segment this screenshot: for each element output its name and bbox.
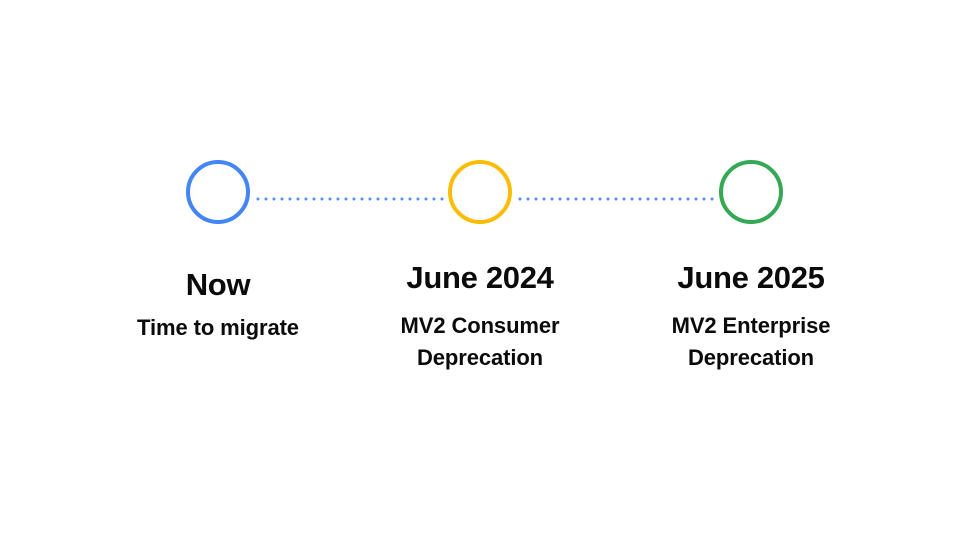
milestone-subtitle-line-1: MV2 Enterprise — [631, 310, 871, 342]
milestone-subtitle: MV2 Enterprise Deprecation — [631, 310, 871, 374]
milestone-title: June 2025 — [631, 262, 871, 293]
milestone-subtitle-line-2: Deprecation — [631, 342, 871, 374]
timeline-milestone-june-2025: June 2025 MV2 Enterprise Deprecation — [631, 160, 871, 374]
milestone-marker-circle-icon — [719, 160, 783, 224]
milestone-subtitle-line-2: Deprecation — [360, 342, 600, 374]
milestone-title: June 2024 — [360, 262, 600, 293]
timeline-milestone-now: Now Time to migrate — [98, 160, 338, 344]
timeline-diagram: Now Time to migrate June 2024 MV2 Consum… — [0, 0, 960, 540]
milestone-title: Now — [98, 269, 338, 300]
milestone-subtitle-line-1: MV2 Consumer — [360, 310, 600, 342]
milestone-subtitle: Time to migrate — [98, 312, 338, 344]
milestone-subtitle: MV2 Consumer Deprecation — [360, 310, 600, 374]
milestone-marker-circle-icon — [186, 160, 250, 224]
milestone-marker-circle-icon — [448, 160, 512, 224]
timeline-milestone-june-2024: June 2024 MV2 Consumer Deprecation — [360, 160, 600, 374]
